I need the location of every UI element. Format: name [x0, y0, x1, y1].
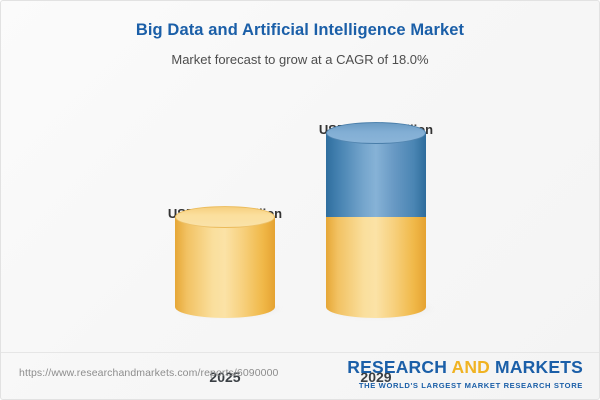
footer: https://www.researchandmarkets.com/repor…: [1, 352, 599, 399]
chart-plot-area: USD 456.35 Billion 2025 USD 884.42 Billi…: [1, 79, 600, 349]
infographic-card: Big Data and Artificial Intelligence Mar…: [0, 0, 600, 400]
bar-segment-yellow-2029: [326, 217, 426, 307]
chart-header: Big Data and Artificial Intelligence Mar…: [1, 1, 599, 67]
cylinder-top-cap: [175, 206, 275, 228]
bar-group-2025: USD 456.35 Billion 2025: [155, 79, 295, 349]
logo-word-research: RESEARCH: [347, 357, 451, 377]
cylinder-body: [175, 217, 275, 307]
bar-segment-blue-2029: [326, 133, 426, 217]
logo-tagline: THE WORLD'S LARGEST MARKET RESEARCH STOR…: [347, 381, 583, 390]
logo-wordmark: RESEARCH AND MARKETS: [347, 357, 583, 378]
page-title: Big Data and Artificial Intelligence Mar…: [1, 21, 599, 40]
research-and-markets-logo[interactable]: RESEARCH AND MARKETS THE WORLD'S LARGEST…: [347, 357, 583, 390]
chart-subtitle: Market forecast to grow at a CAGR of 18.…: [1, 52, 599, 67]
logo-word-and: AND: [451, 357, 490, 377]
bar-segment-yellow-2025: [175, 217, 275, 307]
cylinder-body: [326, 217, 426, 307]
cylinder-body: [326, 133, 426, 217]
bar-group-2029: USD 884.42 Billion 2029: [306, 79, 446, 349]
bar-cylinder-2025[interactable]: [175, 217, 275, 307]
bar-cylinder-2029[interactable]: [326, 133, 426, 307]
logo-word-markets: MARKETS: [490, 357, 583, 377]
cylinder-top-cap: [326, 122, 426, 144]
report-url[interactable]: https://www.researchandmarkets.com/repor…: [19, 367, 278, 379]
